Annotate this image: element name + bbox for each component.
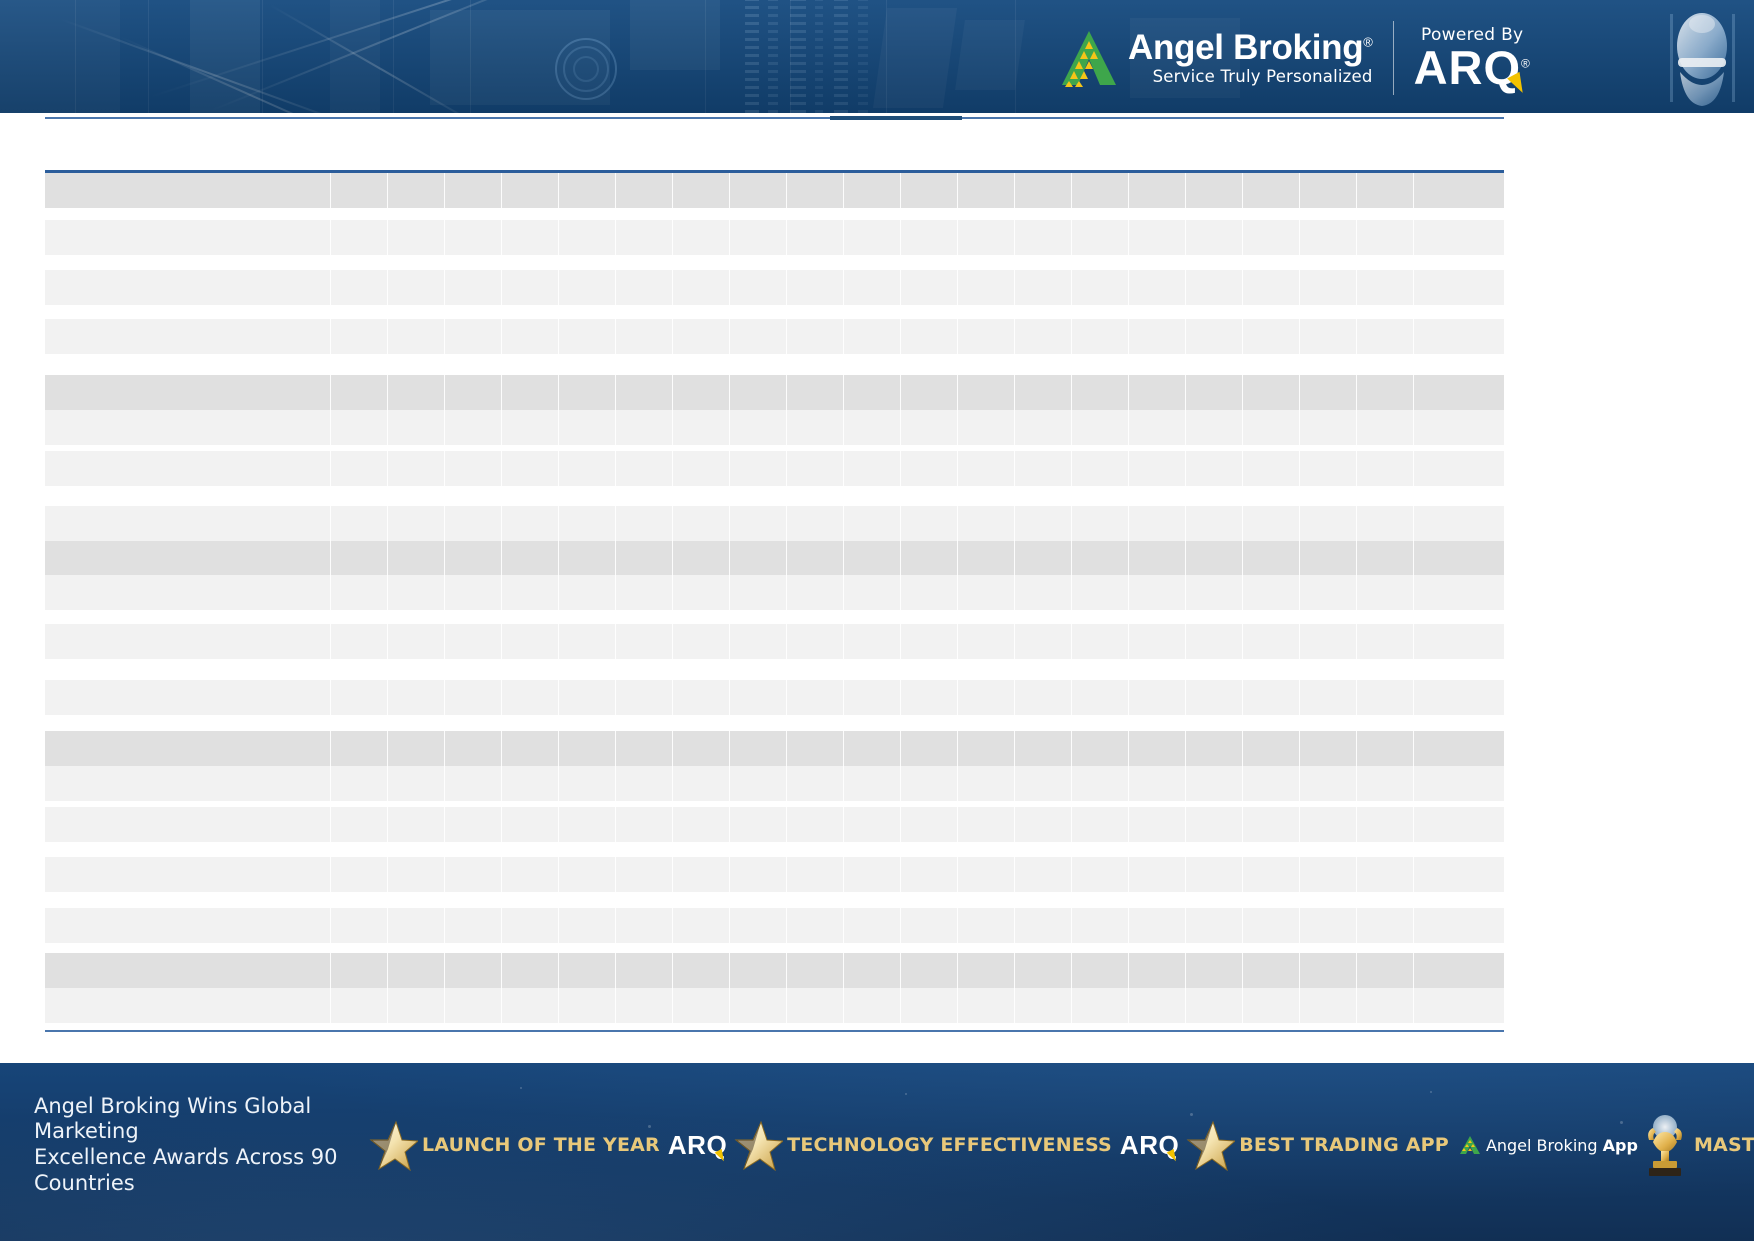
table-column-divider xyxy=(1185,857,1186,892)
table-column-divider xyxy=(1299,173,1300,208)
table-column-divider xyxy=(672,624,673,659)
table-column-divider xyxy=(1128,908,1129,943)
table-column-divider xyxy=(558,173,559,208)
table-column-divider xyxy=(1242,575,1243,610)
footer-content: Angel Broking Wins Global Marketing Exce… xyxy=(0,1063,1754,1241)
table-column-divider xyxy=(843,766,844,801)
gold-trophy-icon xyxy=(1642,1114,1688,1176)
table-column-divider xyxy=(1299,857,1300,892)
table-column-divider xyxy=(843,173,844,208)
table-column-divider xyxy=(330,953,331,988)
table-column-divider xyxy=(1299,220,1300,255)
table-column-divider xyxy=(444,624,445,659)
table-column-divider xyxy=(1356,731,1357,766)
award-badge[interactable]: BEST TRADING APP Angel Broking App xyxy=(1183,1119,1638,1171)
table-column-divider xyxy=(1071,766,1072,801)
table-column-divider xyxy=(1185,731,1186,766)
table-column-divider xyxy=(558,807,559,842)
table-column-divider xyxy=(1356,953,1357,988)
table-column-divider xyxy=(729,173,730,208)
table-column-divider xyxy=(729,807,730,842)
table-row[interactable] xyxy=(45,807,1504,842)
award-label: TECHNOLOGY EFFECTIVENESS xyxy=(787,1134,1112,1156)
table-column-divider xyxy=(330,766,331,801)
table-column-divider xyxy=(1242,624,1243,659)
table-row[interactable] xyxy=(45,541,1504,576)
table-column-divider xyxy=(330,506,331,541)
award-badge[interactable]: TECHNOLOGY EFFECTIVENESSARQ xyxy=(731,1119,1179,1171)
table-column-divider xyxy=(786,988,787,1023)
arq-logo-group[interactable]: Powered By ARQ® xyxy=(1414,25,1531,91)
table-column-divider xyxy=(387,680,388,715)
table-column-divider xyxy=(501,988,502,1023)
logo-divider xyxy=(1393,21,1394,95)
table-column-divider xyxy=(1071,173,1072,208)
table-column-divider xyxy=(1413,270,1414,305)
table-column-divider xyxy=(729,953,730,988)
table-column-divider xyxy=(1128,220,1129,255)
table-row[interactable] xyxy=(45,953,1504,988)
table-column-divider xyxy=(444,270,445,305)
award-badge[interactable]: LAUNCH OF THE YEARARQ xyxy=(366,1119,727,1171)
table-row[interactable] xyxy=(45,624,1504,659)
table-column-divider xyxy=(1071,541,1072,576)
table-column-divider xyxy=(786,575,787,610)
table-column-divider xyxy=(1413,410,1414,445)
table-column-divider xyxy=(729,908,730,943)
table-column-divider xyxy=(501,319,502,354)
table-column-divider xyxy=(1356,988,1357,1023)
table-column-divider xyxy=(558,731,559,766)
table-column-divider xyxy=(615,953,616,988)
table-row[interactable] xyxy=(45,270,1504,305)
table-row[interactable] xyxy=(45,410,1504,445)
table-column-divider xyxy=(1185,575,1186,610)
table-column-divider xyxy=(900,953,901,988)
table-column-divider xyxy=(387,766,388,801)
table-column-divider xyxy=(900,731,901,766)
table-column-divider xyxy=(1071,807,1072,842)
table-column-divider xyxy=(501,410,502,445)
table-column-divider xyxy=(786,731,787,766)
table-row[interactable] xyxy=(45,857,1504,892)
table-column-divider xyxy=(1242,731,1243,766)
table-column-divider xyxy=(786,375,787,410)
table-column-divider xyxy=(444,575,445,610)
table-column-divider xyxy=(1014,375,1015,410)
table-column-divider xyxy=(1185,680,1186,715)
table-column-divider xyxy=(1185,953,1186,988)
table-column-divider xyxy=(1014,807,1015,842)
table-column-divider xyxy=(843,731,844,766)
data-table[interactable] xyxy=(45,113,1504,1030)
table-column-divider xyxy=(1185,319,1186,354)
table-column-divider xyxy=(615,731,616,766)
table-column-divider xyxy=(729,375,730,410)
table-column-divider xyxy=(729,319,730,354)
table-column-divider xyxy=(1014,988,1015,1023)
table-column-divider xyxy=(843,541,844,576)
table-column-divider xyxy=(900,624,901,659)
table-column-divider xyxy=(330,319,331,354)
table-column-divider xyxy=(843,270,844,305)
table-column-divider xyxy=(1185,375,1186,410)
table-column-divider xyxy=(900,807,901,842)
table-column-divider xyxy=(1185,173,1186,208)
table-column-divider xyxy=(1071,270,1072,305)
page-header: Angel Broking® Service Truly Personalize… xyxy=(0,0,1754,113)
table-column-divider xyxy=(729,766,730,801)
table-row[interactable] xyxy=(45,506,1504,541)
table-row[interactable] xyxy=(45,908,1504,943)
table-column-divider xyxy=(1128,953,1129,988)
brand-registered-mark: ® xyxy=(1363,35,1372,50)
table-row[interactable] xyxy=(45,988,1504,1023)
table-column-divider xyxy=(1242,988,1243,1023)
table-column-divider xyxy=(330,807,331,842)
table-column-divider xyxy=(615,541,616,576)
arq-wordmark: ARQ® xyxy=(1414,46,1531,91)
angel-broking-triangle-logo-icon xyxy=(1459,1135,1481,1155)
table-column-divider xyxy=(900,410,901,445)
table-column-divider xyxy=(501,908,502,943)
table-column-divider xyxy=(330,270,331,305)
table-column-divider xyxy=(1356,575,1357,610)
table-column-divider xyxy=(672,953,673,988)
table-column-divider xyxy=(900,319,901,354)
table-column-divider xyxy=(900,451,901,486)
angel-broking-label-text: Angel Broking xyxy=(1486,1136,1603,1155)
table-column-divider xyxy=(1356,173,1357,208)
table-column-divider xyxy=(729,988,730,1023)
table-column-divider xyxy=(957,731,958,766)
table-row[interactable] xyxy=(45,319,1504,354)
table-column-divider xyxy=(558,506,559,541)
table-column-divider xyxy=(1071,624,1072,659)
table-column-divider xyxy=(444,857,445,892)
table-column-divider xyxy=(900,908,901,943)
table-column-divider xyxy=(729,680,730,715)
table-column-divider xyxy=(1299,541,1300,576)
table-column-divider xyxy=(444,908,445,943)
table-column-divider xyxy=(1014,857,1015,892)
table-column-divider xyxy=(330,451,331,486)
table-column-divider xyxy=(1356,857,1357,892)
award-label: MASTER BRAND 2016 xyxy=(1694,1134,1754,1156)
table-column-divider xyxy=(957,953,958,988)
table-column-divider xyxy=(558,988,559,1023)
table-column-divider xyxy=(672,220,673,255)
table-column-divider xyxy=(843,680,844,715)
table-column-divider xyxy=(1185,541,1186,576)
brand-text-block: Angel Broking® Service Truly Personalize… xyxy=(1128,30,1373,86)
table-column-divider xyxy=(1071,857,1072,892)
table-column-divider xyxy=(843,375,844,410)
table-column-divider xyxy=(387,541,388,576)
table-column-divider xyxy=(957,908,958,943)
gold-star-icon xyxy=(366,1119,418,1171)
table-column-divider xyxy=(615,410,616,445)
table-column-divider xyxy=(786,173,787,208)
table-column-divider xyxy=(1071,375,1072,410)
table-column-divider xyxy=(1356,624,1357,659)
table-column-divider xyxy=(387,173,388,208)
table-column-divider xyxy=(957,624,958,659)
table-column-divider xyxy=(615,270,616,305)
table-column-divider xyxy=(1242,451,1243,486)
table-column-divider xyxy=(1413,953,1414,988)
table-column-divider xyxy=(387,988,388,1023)
table-column-divider xyxy=(729,270,730,305)
table-row[interactable] xyxy=(45,766,1504,801)
table-column-divider xyxy=(501,506,502,541)
table-column-divider xyxy=(1356,908,1357,943)
table-column-divider xyxy=(957,807,958,842)
table-column-divider xyxy=(1242,220,1243,255)
table-column-divider xyxy=(558,541,559,576)
table-column-divider xyxy=(1014,319,1015,354)
table-column-divider xyxy=(1356,541,1357,576)
table-column-divider xyxy=(444,988,445,1023)
table-column-divider xyxy=(1128,451,1129,486)
table-column-divider xyxy=(1299,988,1300,1023)
table-column-divider xyxy=(444,807,445,842)
table-column-divider xyxy=(1413,857,1414,892)
table-column-divider xyxy=(1128,375,1129,410)
table-column-divider xyxy=(957,680,958,715)
table-column-divider xyxy=(786,270,787,305)
table-column-divider xyxy=(957,270,958,305)
table-column-divider xyxy=(444,731,445,766)
brand-name: Angel Broking xyxy=(1128,28,1363,67)
table-column-divider xyxy=(900,173,901,208)
table-column-divider xyxy=(900,220,901,255)
table-column-divider xyxy=(843,410,844,445)
table-row[interactable] xyxy=(45,220,1504,255)
table-column-divider xyxy=(1014,575,1015,610)
table-column-divider xyxy=(1071,908,1072,943)
table-column-divider xyxy=(1014,410,1015,445)
table-column-divider xyxy=(1356,375,1357,410)
table-column-divider xyxy=(501,451,502,486)
table-column-divider xyxy=(1356,680,1357,715)
table-column-divider xyxy=(501,220,502,255)
arq-registered-mark: ® xyxy=(1521,57,1531,71)
table-column-divider xyxy=(444,451,445,486)
table-column-divider xyxy=(444,766,445,801)
table-column-divider xyxy=(786,410,787,445)
table-column-divider xyxy=(387,953,388,988)
table-column-divider xyxy=(672,451,673,486)
table-column-divider xyxy=(1356,220,1357,255)
table-column-divider xyxy=(1128,575,1129,610)
table-column-divider xyxy=(387,575,388,610)
table-header-row[interactable] xyxy=(45,173,1504,208)
table-column-divider xyxy=(957,857,958,892)
angel-broking-wordmark-small: Angel Broking App xyxy=(1459,1135,1638,1155)
table-row[interactable] xyxy=(45,731,1504,766)
table-column-divider xyxy=(1128,319,1129,354)
table-column-divider xyxy=(786,220,787,255)
award-label: BEST TRADING APP xyxy=(1239,1134,1449,1156)
table-column-divider xyxy=(729,624,730,659)
table-column-divider xyxy=(729,857,730,892)
table-column-divider xyxy=(501,541,502,576)
table-column-divider xyxy=(900,680,901,715)
table-column-divider xyxy=(1071,575,1072,610)
table-column-divider xyxy=(1128,731,1129,766)
table-column-divider xyxy=(1413,220,1414,255)
table-row[interactable] xyxy=(45,575,1504,610)
table-column-divider xyxy=(957,173,958,208)
table-column-divider xyxy=(615,766,616,801)
table-column-divider xyxy=(1071,731,1072,766)
table-column-divider xyxy=(786,624,787,659)
table-column-divider xyxy=(1071,451,1072,486)
table-column-divider xyxy=(672,375,673,410)
table-column-divider xyxy=(1185,807,1186,842)
table-column-divider xyxy=(1413,173,1414,208)
table-column-divider xyxy=(387,270,388,305)
table-column-divider xyxy=(387,319,388,354)
table-column-divider xyxy=(444,680,445,715)
angel-broking-label-small: Angel Broking App xyxy=(1486,1136,1638,1155)
table-column-divider xyxy=(330,173,331,208)
table-column-divider xyxy=(444,506,445,541)
table-column-divider xyxy=(501,680,502,715)
table-column-divider xyxy=(786,319,787,354)
table-column-divider xyxy=(672,541,673,576)
table-column-divider xyxy=(1299,953,1300,988)
table-column-divider xyxy=(957,506,958,541)
table-column-divider xyxy=(1014,731,1015,766)
table-column-divider xyxy=(558,680,559,715)
table-column-divider xyxy=(1242,541,1243,576)
table-column-divider xyxy=(843,988,844,1023)
table-column-divider xyxy=(1128,766,1129,801)
table-column-divider xyxy=(843,506,844,541)
footer-headline-line1: Angel Broking Wins Global Marketing xyxy=(34,1094,366,1145)
table-column-divider xyxy=(330,731,331,766)
table-column-divider xyxy=(1413,988,1414,1023)
table-column-divider xyxy=(387,220,388,255)
table-column-divider xyxy=(1413,375,1414,410)
table-column-divider xyxy=(729,731,730,766)
table-column-divider xyxy=(786,680,787,715)
table-column-divider xyxy=(1356,807,1357,842)
table-column-divider xyxy=(1356,766,1357,801)
gold-star-icon xyxy=(731,1119,783,1171)
table-column-divider xyxy=(1413,908,1414,943)
table-column-divider xyxy=(672,319,673,354)
table-column-divider xyxy=(1014,766,1015,801)
table-column-divider xyxy=(900,857,901,892)
table-column-divider xyxy=(1185,624,1186,659)
table-column-divider xyxy=(1014,908,1015,943)
table-column-divider xyxy=(1299,319,1300,354)
table-column-divider xyxy=(1185,908,1186,943)
angel-broking-triangle-logo-icon xyxy=(1060,29,1118,87)
table-column-divider xyxy=(786,766,787,801)
table-column-divider xyxy=(729,575,730,610)
page-footer: Angel Broking Wins Global Marketing Exce… xyxy=(0,1063,1754,1241)
table-column-divider xyxy=(843,624,844,659)
table-column-divider xyxy=(1356,451,1357,486)
table-column-divider xyxy=(1071,988,1072,1023)
arq-robot-head-icon xyxy=(1660,6,1744,110)
table-column-divider xyxy=(558,220,559,255)
table-column-divider xyxy=(843,908,844,943)
table-column-divider xyxy=(900,506,901,541)
table-column-divider xyxy=(558,410,559,445)
arq-name: ARQ xyxy=(1414,41,1521,94)
table-row[interactable] xyxy=(45,375,1504,410)
arq-wordmark-small: ARQ xyxy=(1120,1130,1179,1161)
table-column-divider xyxy=(330,680,331,715)
table-column-divider xyxy=(1299,575,1300,610)
table-column-divider xyxy=(330,857,331,892)
table-column-divider xyxy=(1128,410,1129,445)
table-column-divider xyxy=(615,220,616,255)
table-column-divider xyxy=(615,807,616,842)
table-column-divider xyxy=(900,575,901,610)
table-column-divider xyxy=(843,220,844,255)
table-column-divider xyxy=(1014,541,1015,576)
table-column-divider xyxy=(444,953,445,988)
brand-logo-group[interactable]: Angel Broking® Service Truly Personalize… xyxy=(1060,18,1531,98)
table-column-divider xyxy=(1413,766,1414,801)
table-column-divider xyxy=(1242,857,1243,892)
table-column-divider xyxy=(843,451,844,486)
table-column-divider xyxy=(729,410,730,445)
table-column-divider xyxy=(501,953,502,988)
table-column-divider xyxy=(558,319,559,354)
table-column-divider xyxy=(1356,506,1357,541)
table-column-divider xyxy=(444,410,445,445)
table-column-divider xyxy=(444,541,445,576)
table-column-divider xyxy=(387,410,388,445)
table-column-divider xyxy=(1071,506,1072,541)
table-column-divider xyxy=(330,220,331,255)
table-column-divider xyxy=(1299,506,1300,541)
table-column-divider xyxy=(558,624,559,659)
table-column-divider xyxy=(1299,410,1300,445)
table-column-divider xyxy=(558,908,559,943)
table-column-divider xyxy=(1299,270,1300,305)
table-row[interactable] xyxy=(45,680,1504,715)
table-column-divider xyxy=(729,541,730,576)
table-column-divider xyxy=(387,857,388,892)
table-column-divider xyxy=(900,375,901,410)
table-column-divider xyxy=(786,506,787,541)
table-column-divider xyxy=(387,506,388,541)
table-column-divider xyxy=(444,375,445,410)
table-column-divider xyxy=(1299,908,1300,943)
table-column-divider xyxy=(1014,953,1015,988)
table-column-divider xyxy=(1242,270,1243,305)
table-column-divider xyxy=(1413,624,1414,659)
table-column-divider xyxy=(1242,410,1243,445)
table-row[interactable] xyxy=(45,451,1504,486)
table-column-divider xyxy=(1128,988,1129,1023)
table-column-divider xyxy=(444,173,445,208)
award-label: LAUNCH OF THE YEAR xyxy=(422,1134,660,1156)
table-column-divider xyxy=(900,766,901,801)
table-column-divider xyxy=(957,410,958,445)
table-column-divider xyxy=(786,451,787,486)
award-badge[interactable]: MASTER BRAND 2016 Angel Broking xyxy=(1642,1114,1754,1176)
arq-wordmark-small: ARQ xyxy=(668,1130,727,1161)
